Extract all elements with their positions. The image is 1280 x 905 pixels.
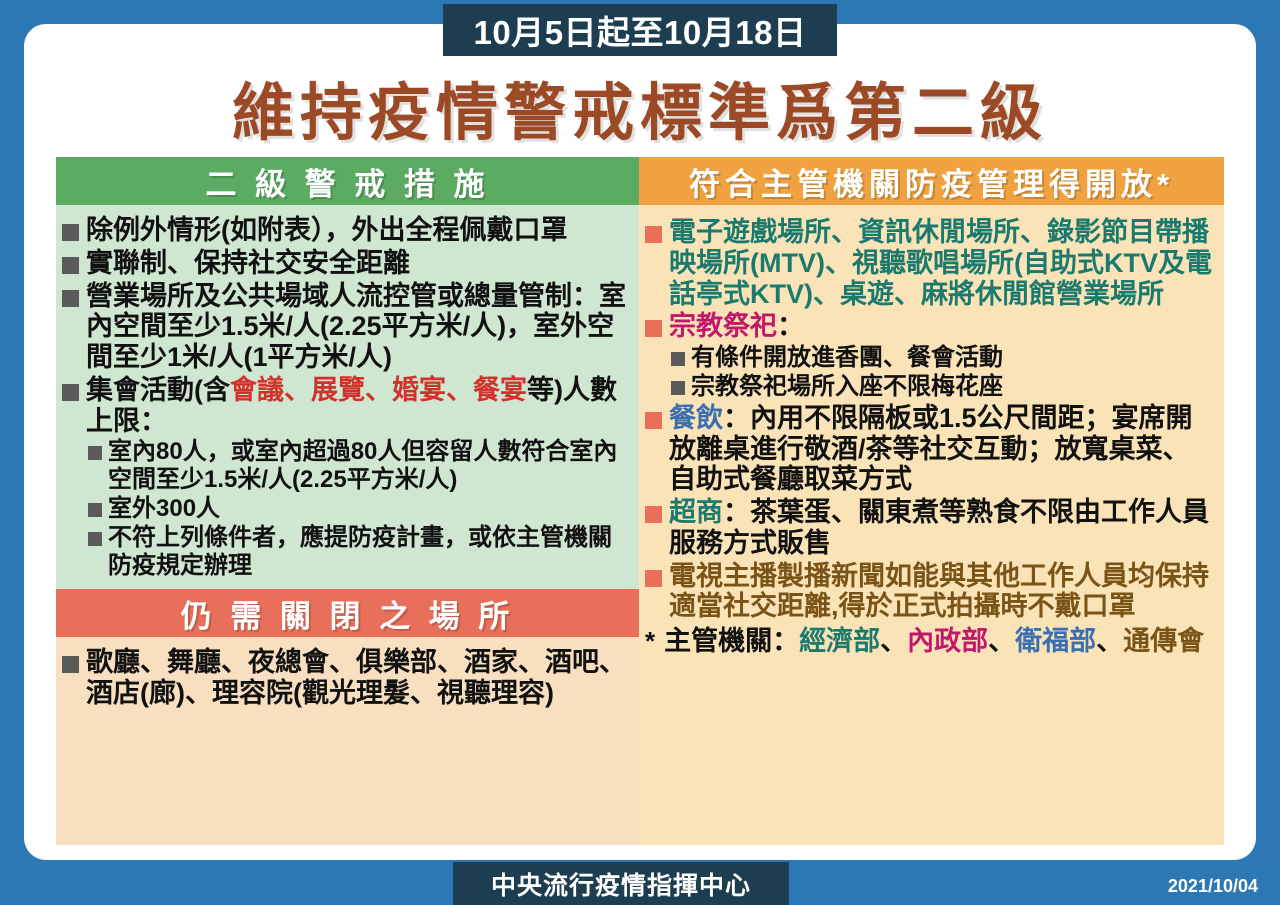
agency-label: 經濟部 — [799, 626, 880, 656]
note-text: 主管機關：經濟部、內政部、衛福部、通傳會 — [664, 626, 1204, 657]
footer-organization-badge: 中央流行疫情指揮中心 — [453, 862, 789, 905]
list-item-label: 有條件開放進香團、餐會活動 — [691, 344, 1003, 371]
agency-separator: 、 — [988, 626, 1015, 656]
list-item: 室外300人 — [62, 495, 631, 522]
item-keyword: 電子遊戲場所、資訊休閒場所、錄影節目帶播映場所(MTV)、視聽歌唱場所(自助式K… — [669, 217, 1212, 309]
square-bullet-icon — [88, 446, 102, 460]
square-bullet-icon — [88, 532, 102, 546]
competent-authorities-note: * 主管機關：經濟部、內政部、衛福部、通傳會 — [645, 626, 1216, 657]
date-banner: 10月5日起至10月18日 — [443, 4, 837, 56]
square-bullet-icon — [62, 656, 79, 673]
square-bullet-icon — [645, 570, 662, 587]
note-prefix: 主管機關： — [664, 626, 799, 656]
square-bullet-icon — [645, 506, 662, 523]
closed-venues-header-text: 仍 需 關 閉 之 場 所 — [181, 591, 515, 636]
list-item-label: 不符上列條件者，應提防疫計畫，或依主管機關防疫規定辦理 — [108, 524, 631, 579]
level2-measures-list: 除例外情形(如附表），外出全程佩戴口罩 實聯制、保持社交安全距離 營業場所及公共… — [62, 215, 631, 579]
columns-container: 二 級 警 戒 措 施 除例外情形(如附表），外出全程佩戴口罩 實聯制、保持社交… — [56, 157, 1224, 845]
footer-date: 2021/10/04 — [1168, 876, 1258, 897]
list-item: 不符上列條件者，應提防疫計畫，或依主管機關防疫規定辦理 — [62, 524, 631, 579]
right-column: 符合主管機關防疫管理得開放* 電子遊戲場所、資訊休閒場所、錄影節目帶播映場所(M… — [639, 157, 1224, 845]
list-item-label: 餐飲：內用不限隔板或1.5公尺間距；宴席開放離桌進行敬酒/茶等社交互動；放寬桌菜… — [669, 403, 1216, 495]
right-column-header: 符合主管機關防疫管理得開放* — [639, 157, 1224, 205]
item-keyword: 電視主播製播新聞如能與其他工作人員均保持適當社交距離,得於正式拍攝時不戴口罩 — [669, 561, 1209, 622]
square-bullet-icon — [645, 412, 662, 429]
closed-venues-list: 歌廳、舞廳、夜總會、俱樂部、酒家、酒吧、酒店(廊)、理容院(觀光理髮、視聽理容) — [62, 647, 631, 709]
agency-separator: 、 — [880, 626, 907, 656]
list-item-label: 電視主播製播新聞如能與其他工作人員均保持適當社交距離,得於正式拍攝時不戴口罩 — [669, 561, 1216, 623]
list-item-gathering: 集會活動(含會議、展覽、婚宴、餐宴等)人數上限： — [62, 375, 631, 437]
square-bullet-icon — [62, 384, 79, 401]
list-item: 電子遊戲場所、資訊休閒場所、錄影節目帶播映場所(MTV)、視聽歌唱場所(自助式K… — [645, 217, 1216, 309]
item-body: ： — [777, 311, 804, 341]
list-item-label: 宗教祭祀場所入座不限梅花座 — [691, 373, 1003, 400]
closed-venues-body: 歌廳、舞廳、夜總會、俱樂部、酒家、酒吧、酒店(廊)、理容院(觀光理髮、視聽理容) — [56, 637, 639, 845]
list-item: 營業場所及公共場域人流控管或總量管制：室內空間至少1.5米/人(2.25平方米/… — [62, 281, 631, 373]
closed-venues-header: 仍 需 關 閉 之 場 所 — [56, 589, 639, 637]
square-bullet-icon — [88, 503, 102, 517]
list-item-label: 電子遊戲場所、資訊休閒場所、錄影節目帶播映場所(MTV)、視聽歌唱場所(自助式K… — [669, 217, 1216, 309]
right-column-header-text: 符合主管機關防疫管理得開放* — [689, 159, 1174, 204]
asterisk-icon: * — [645, 627, 655, 657]
page-title-text: 維持疫情警戒標準爲第二級 — [232, 79, 1048, 148]
list-item-label: 超商：茶葉蛋、關東煮等熟食不限由工作人員服務方式販售 — [669, 497, 1216, 559]
list-item: 歌廳、舞廳、夜總會、俱樂部、酒家、酒吧、酒店(廊)、理容院(觀光理髮、視聽理容) — [62, 647, 631, 709]
item-body: ：內用不限隔板或1.5公尺間距；宴席開放離桌進行敬酒/茶等社交互動；放寬桌菜、自… — [669, 403, 1193, 495]
list-item-label: 營業場所及公共場域人流控管或總量管制：室內空間至少1.5米/人(2.25平方米/… — [86, 281, 631, 373]
list-item: 超商：茶葉蛋、關東煮等熟食不限由工作人員服務方式販售 — [645, 497, 1216, 559]
list-item: 除例外情形(如附表），外出全程佩戴口罩 — [62, 215, 631, 246]
square-bullet-icon — [62, 257, 79, 274]
list-item-label: 室外300人 — [108, 495, 220, 522]
square-bullet-icon — [645, 320, 662, 337]
left-column-body: 除例外情形(如附表），外出全程佩戴口罩 實聯制、保持社交安全距離 營業場所及公共… — [56, 205, 639, 589]
list-item: 室內80人，或室內超過80人但容留人數符合室內空間至少1.5米/人(2.25平方… — [62, 438, 631, 493]
date-banner-text: 10月5日起至10月18日 — [474, 6, 807, 54]
gathering-prefix: 集會活動(含 — [86, 375, 230, 405]
list-item: 宗教祭祀場所入座不限梅花座 — [645, 373, 1216, 400]
square-bullet-icon — [671, 352, 685, 366]
list-item-label: 歌廳、舞廳、夜總會、俱樂部、酒家、酒吧、酒店(廊)、理容院(觀光理髮、視聽理容) — [86, 647, 631, 709]
item-keyword: 餐飲 — [669, 403, 723, 433]
left-column-header: 二 級 警 戒 措 施 — [56, 157, 639, 205]
infographic-poster: 10月5日起至10月18日 維持疫情警戒標準爲第二級 二 級 警 戒 措 施 除… — [0, 0, 1280, 905]
square-bullet-icon — [62, 224, 79, 241]
square-bullet-icon — [62, 290, 79, 307]
right-column-body: 電子遊戲場所、資訊休閒場所、錄影節目帶播映場所(MTV)、視聽歌唱場所(自助式K… — [639, 205, 1224, 845]
item-keyword: 超商 — [669, 497, 723, 527]
list-item: 有條件開放進香團、餐會活動 — [645, 344, 1216, 371]
list-item: 宗教祭祀： — [645, 311, 1216, 342]
footer-organization-text: 中央流行疫情指揮中心 — [491, 866, 751, 902]
agency-label: 通傳會 — [1123, 626, 1204, 656]
gathering-highlight: 會議、展覽、婚宴、餐宴 — [230, 375, 527, 405]
left-column-header-text: 二 級 警 戒 措 施 — [205, 159, 489, 204]
gathering-label: 集會活動(含會議、展覽、婚宴、餐宴等)人數上限： — [86, 375, 631, 437]
list-item: 實聯制、保持社交安全距離 — [62, 248, 631, 279]
permitted-openings-list: 電子遊戲場所、資訊休閒場所、錄影節目帶播映場所(MTV)、視聽歌唱場所(自助式K… — [645, 217, 1216, 657]
list-item: 電視主播製播新聞如能與其他工作人員均保持適當社交距離,得於正式拍攝時不戴口罩 — [645, 561, 1216, 623]
item-keyword: 宗教祭祀 — [669, 311, 777, 341]
square-bullet-icon — [645, 226, 662, 243]
square-bullet-icon — [671, 381, 685, 395]
left-column: 二 級 警 戒 措 施 除例外情形(如附表），外出全程佩戴口罩 實聯制、保持社交… — [56, 157, 639, 845]
list-item-label: 除例外情形(如附表），外出全程佩戴口罩 — [86, 215, 568, 246]
list-item-label: 實聯制、保持社交安全距離 — [86, 248, 410, 279]
item-body: ：茶葉蛋、關東煮等熟食不限由工作人員服務方式販售 — [669, 497, 1209, 558]
list-item-label: 室內80人，或室內超過80人但容留人數符合室內空間至少1.5米/人(2.25平方… — [108, 438, 631, 493]
list-item: 餐飲：內用不限隔板或1.5公尺間距；宴席開放離桌進行敬酒/茶等社交互動；放寬桌菜… — [645, 403, 1216, 495]
page-title: 維持疫情警戒標準爲第二級 — [0, 62, 1280, 152]
agency-separator: 、 — [1096, 626, 1123, 656]
agency-label: 衛福部 — [1015, 626, 1096, 656]
agency-label: 內政部 — [907, 626, 988, 656]
list-item-label: 宗教祭祀： — [669, 311, 804, 342]
